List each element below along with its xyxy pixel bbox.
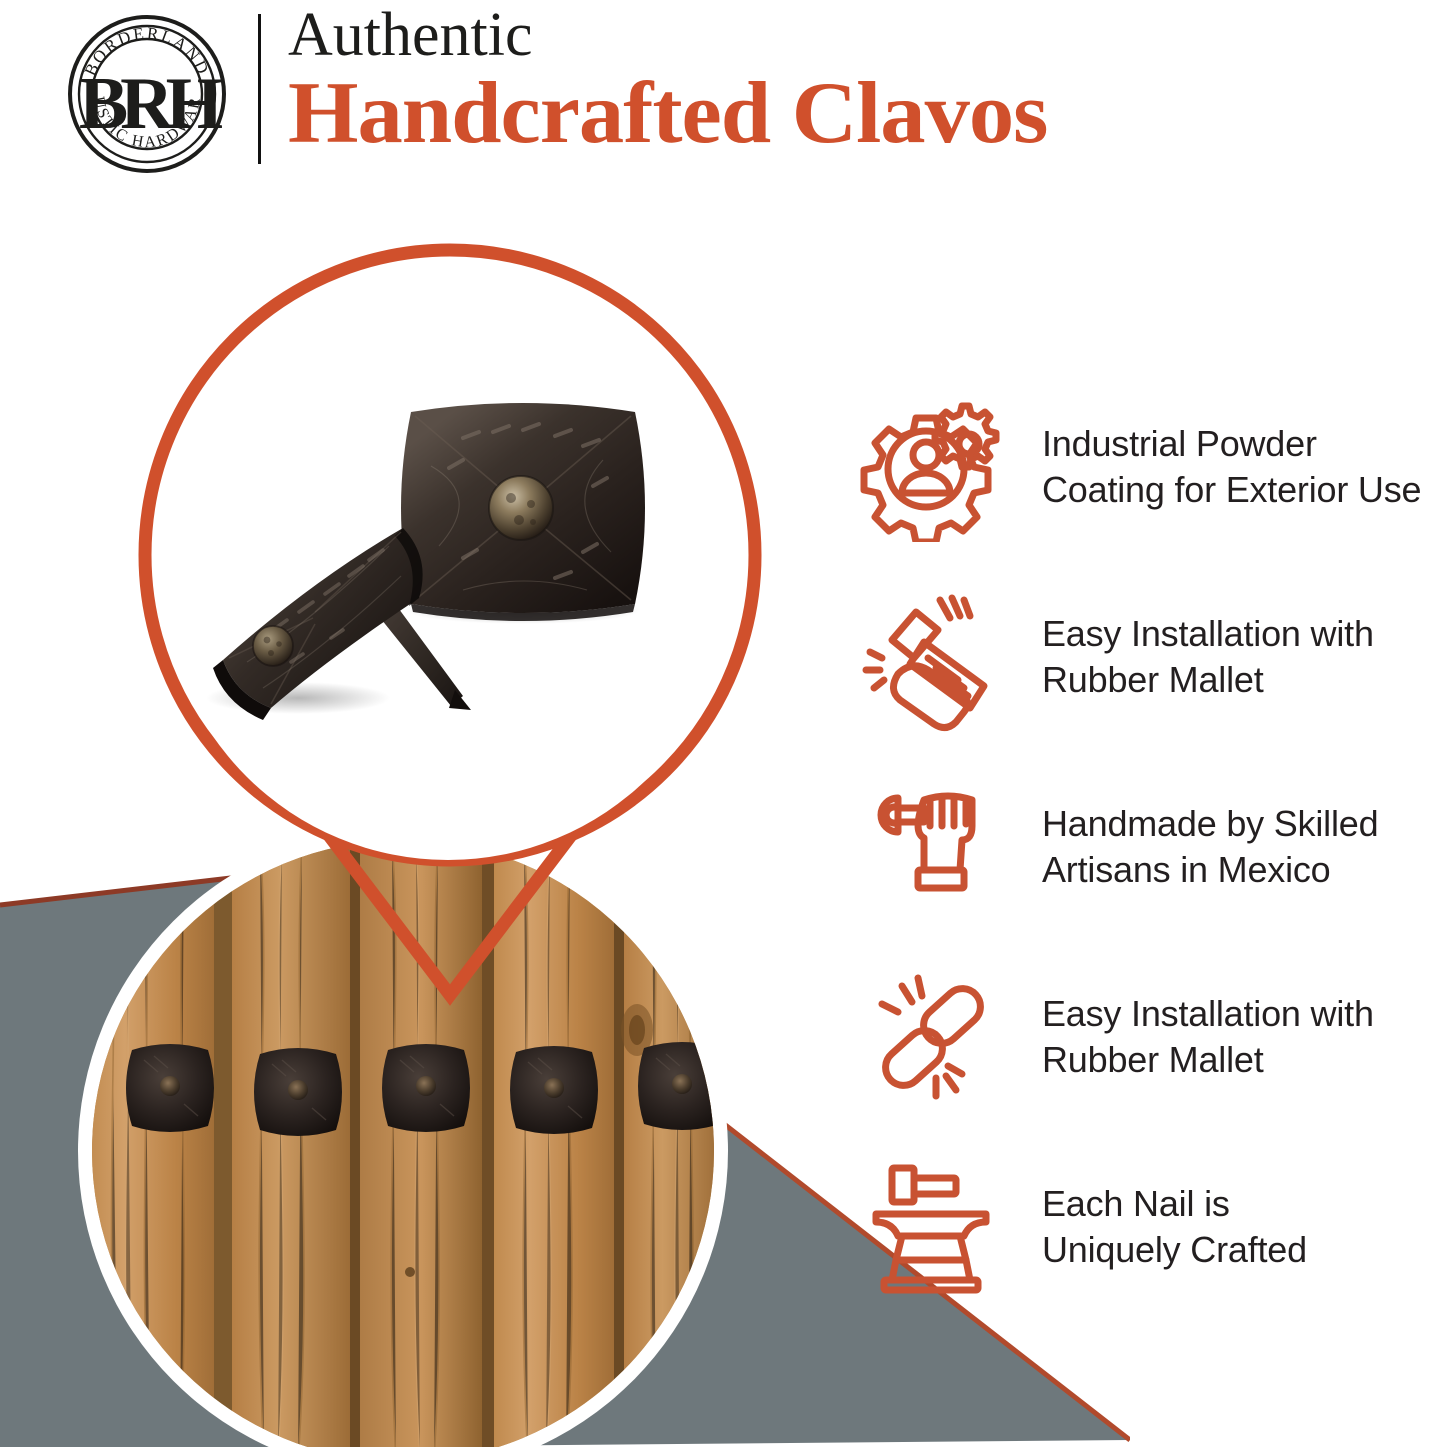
hand-mallet-icon [858,582,1008,732]
feature-label-line1: Easy Installation with [1042,991,1445,1037]
feature-label-line1: Easy Installation with [1042,611,1445,657]
feature-label-line2: Rubber Mallet [1042,657,1445,703]
feature-row: Handmade by Skilled Artisans in Mexico [858,752,1445,942]
clavo-nail [254,1048,342,1136]
page-title-handcrafted-clavos: Handcrafted Clavos [288,68,1445,160]
header: BORDERLAND RUSTIC HARDWARE BRH Authentic… [0,0,1445,190]
header-divider [258,14,261,164]
chain-link-icon [858,962,1008,1112]
logo-icon: BORDERLAND RUSTIC HARDWARE BRH [52,12,242,177]
feature-row: Easy Installation with Rubber Mallet [858,562,1445,752]
feature-label: Easy Installation with Rubber Mallet [1008,991,1445,1083]
clavo-nail [510,1046,598,1134]
feature-row: Easy Installation with Rubber Mallet [858,942,1445,1132]
two-clavos-nails-image [163,290,733,860]
feature-label-line1: Handmade by Skilled [1042,801,1445,847]
feature-label-line1: Each Nail is [1042,1181,1445,1227]
feature-list: Industrial Powder Coating for Exterior U… [858,372,1445,1322]
product-infographic: BORDERLAND RUSTIC HARDWARE BRH Authentic… [0,0,1445,1447]
feature-label-line2: Uniquely Crafted [1042,1227,1445,1273]
clavo-nail [382,1044,470,1132]
feature-label-line2: Coating for Exterior Use [1042,467,1445,513]
header-text-block: Authentic Handcrafted Clavos [288,2,1428,160]
page-title-authentic: Authentic [288,2,1428,68]
feature-row: Industrial Powder Coating for Exterior U… [858,372,1445,562]
logo-monogram: BRH [79,63,223,145]
clavo-nail [126,1044,214,1132]
anvil-hammer-icon [858,1152,1008,1302]
feature-label: Handmade by Skilled Artisans in Mexico [1008,801,1445,893]
clavo-face-view [401,403,645,621]
feature-label: Easy Installation with Rubber Mallet [1008,611,1445,703]
feature-label-line2: Artisans in Mexico [1042,847,1445,893]
feature-row: Each Nail is Uniquely Crafted [858,1132,1445,1322]
feature-label-line2: Rubber Mallet [1042,1037,1445,1083]
clavos-product-photo [163,290,733,860]
feature-label: Each Nail is Uniquely Crafted [1008,1181,1445,1273]
feature-label: Industrial Powder Coating for Exterior U… [1008,421,1445,513]
gear-person-icon [858,392,1008,542]
feature-label-line1: Industrial Powder [1042,421,1445,467]
fist-wrench-icon [858,772,1008,922]
brh-seal-logo: BORDERLAND RUSTIC HARDWARE BRH [52,12,242,177]
